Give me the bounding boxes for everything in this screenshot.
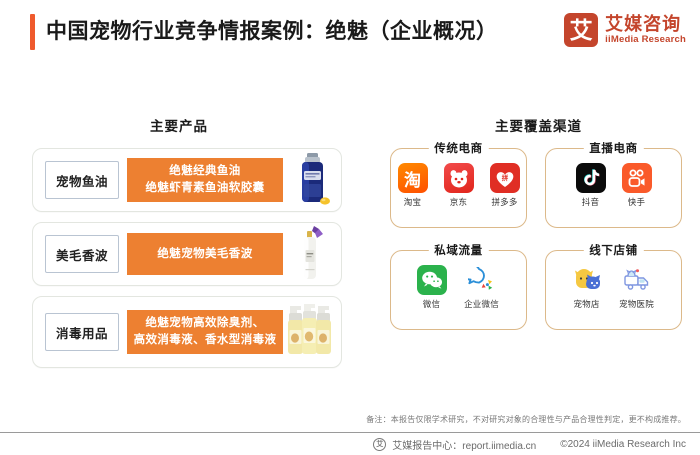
channel-group-traditional-ecommerce: 传统电商 淘 淘宝 <box>390 148 527 228</box>
channels-row-1: 传统电商 淘 淘宝 <box>390 148 682 228</box>
spray-bottles-icon <box>284 300 340 364</box>
product-card: 消毒用品 绝魅宠物高效除臭剂、 高效消毒液、香水型消毒液 <box>32 296 342 368</box>
pet-store-icon[interactable] <box>572 265 602 295</box>
channel-items: 淘 淘宝 <box>391 163 526 208</box>
channel-item-label: 宠物医院 <box>619 298 654 310</box>
channel-item-label: 企业微信 <box>464 298 499 310</box>
product-image-spray <box>283 301 341 363</box>
product-description: 绝魅宠物高效除臭剂、 高效消毒液、香水型消毒液 <box>127 310 283 354</box>
product-description-line-1: 绝魅宠物美毛香波 <box>157 246 252 263</box>
channel-item-label: 快手 <box>628 196 645 208</box>
product-description-line-2: 绝魅虾青素鱼油软胶囊 <box>146 180 265 197</box>
jd-dog-glyph <box>448 167 470 189</box>
footer-copyright: ©2024 iiMedia Research Inc <box>560 439 686 450</box>
footnote: 备注：本报告仅限学术研究，不对研究对象的合理性与产品合理性判定，更不构成推荐。 <box>366 414 686 425</box>
fish-oil-bottle-icon <box>292 151 332 209</box>
channel-item-taobao[interactable]: 淘 淘宝 <box>394 163 432 208</box>
channel-item-label: 淘宝 <box>404 196 421 208</box>
svg-text:拼: 拼 <box>501 173 508 182</box>
channel-group-title: 传统电商 <box>428 140 488 156</box>
title-accent-bar <box>30 14 35 50</box>
channel-item-jd[interactable]: 京东 <box>440 163 478 208</box>
product-card: 宠物鱼油 绝魅经典鱼油 绝魅虾青素鱼油软胶囊 <box>32 148 342 212</box>
product-description-line-1: 绝魅宠物高效除臭剂、 <box>134 315 277 332</box>
kuaishou-icon[interactable] <box>622 163 652 193</box>
channels-row-2: 私域流量 <box>390 250 682 330</box>
pet-ambulance-glyph <box>623 268 651 292</box>
channel-item-pet-hospital[interactable]: 宠物医院 <box>614 265 660 310</box>
channel-item-pet-store[interactable]: 宠物店 <box>568 265 606 310</box>
footer-divider <box>0 432 700 433</box>
channel-items: 微信 企业微信 <box>391 265 526 310</box>
douyin-note-glyph <box>581 168 601 188</box>
channel-item-douyin[interactable]: 抖音 <box>572 163 610 208</box>
channel-item-kuaishou[interactable]: 快手 <box>618 163 656 208</box>
pet-store-animals-glyph <box>573 268 601 292</box>
brand-name-cn: 艾媒咨询 <box>605 15 686 34</box>
brand-name-en: iiMedia Research <box>605 34 686 45</box>
product-description: 绝魅经典鱼油 绝魅虾青素鱼油软胶囊 <box>127 158 283 202</box>
slide-root: 中国宠物行业竞争情报案例：绝魅（企业概况） 艾 艾媒咨询 iiMedia Res… <box>0 0 700 455</box>
channel-group-title: 线下店铺 <box>583 242 643 258</box>
channels-section-title: 主要覆盖渠道 <box>495 115 582 135</box>
taobao-icon[interactable]: 淘 <box>398 163 428 193</box>
footer-logo-icon: 艾 <box>373 438 386 451</box>
product-image-shampoo <box>283 223 341 285</box>
channel-item-label: 拼多多 <box>491 196 517 208</box>
shampoo-bottle-icon <box>292 225 332 283</box>
channel-group-offline-stores: 线下店铺 <box>545 250 682 330</box>
wechat-bubbles-glyph <box>421 270 443 290</box>
product-card: 美毛香波 绝魅宠物美毛香波 <box>32 222 342 286</box>
pdd-icon[interactable]: 拼 <box>490 163 520 193</box>
products-section-title: 主要产品 <box>150 115 208 135</box>
product-description: 绝魅宠物美毛香波 <box>127 233 283 275</box>
product-description-line-1: 绝魅经典鱼油 <box>146 163 265 180</box>
channel-group-title: 私域流量 <box>428 242 488 258</box>
brand-text: 艾媒咨询 iiMedia Research <box>605 15 686 45</box>
channels-grid: 传统电商 淘 淘宝 <box>390 148 682 352</box>
channel-group-private-traffic: 私域流量 <box>390 250 527 330</box>
channel-group-live-ecommerce: 直播电商 抖音 <box>545 148 682 228</box>
pdd-heart-glyph: 拼 <box>493 166 517 190</box>
channel-item-label: 京东 <box>450 196 467 208</box>
product-label: 消毒用品 <box>45 313 119 351</box>
product-label: 宠物鱼油 <box>45 161 119 199</box>
channel-items: 抖音 快手 <box>546 163 681 208</box>
products-list: 宠物鱼油 绝魅经典鱼油 绝魅虾青素鱼油软胶囊 <box>32 148 342 378</box>
channel-item-wework[interactable]: 企业微信 <box>459 265 505 310</box>
pet-hospital-icon[interactable] <box>622 265 652 295</box>
channel-item-label: 抖音 <box>582 196 599 208</box>
product-label: 美毛香波 <box>45 235 119 273</box>
footer-report-center: 艾媒报告中心：report.iimedia.cn <box>392 437 536 452</box>
channel-item-label: 微信 <box>423 298 440 310</box>
channel-group-title: 直播电商 <box>583 140 643 156</box>
channel-items: 宠物店 <box>546 265 681 310</box>
slide-header: 中国宠物行业竞争情报案例：绝魅（企业概况） 艾 艾媒咨询 iiMedia Res… <box>0 0 700 62</box>
channel-item-label: 宠物店 <box>573 298 599 310</box>
wechat-icon[interactable] <box>417 265 447 295</box>
kuaishou-camera-glyph <box>626 168 647 189</box>
douyin-icon[interactable] <box>576 163 606 193</box>
wework-icon[interactable] <box>467 265 497 295</box>
product-image-fish-oil <box>283 149 341 211</box>
footer-bar: 艾 艾媒报告中心：report.iimedia.cn ©2024 iiMedia… <box>373 437 686 452</box>
channel-item-wechat[interactable]: 微信 <box>413 265 451 310</box>
product-description-line-2: 高效消毒液、香水型消毒液 <box>134 332 277 349</box>
channel-item-pdd[interactable]: 拼 拼多多 <box>486 163 524 208</box>
brand-mark-icon: 艾 <box>564 13 598 47</box>
brand-logo: 艾 艾媒咨询 iiMedia Research <box>564 13 686 47</box>
page-title: 中国宠物行业竞争情报案例：绝魅（企业概况） <box>46 15 498 45</box>
wework-bubble-glyph <box>468 267 495 293</box>
jd-icon[interactable] <box>444 163 474 193</box>
